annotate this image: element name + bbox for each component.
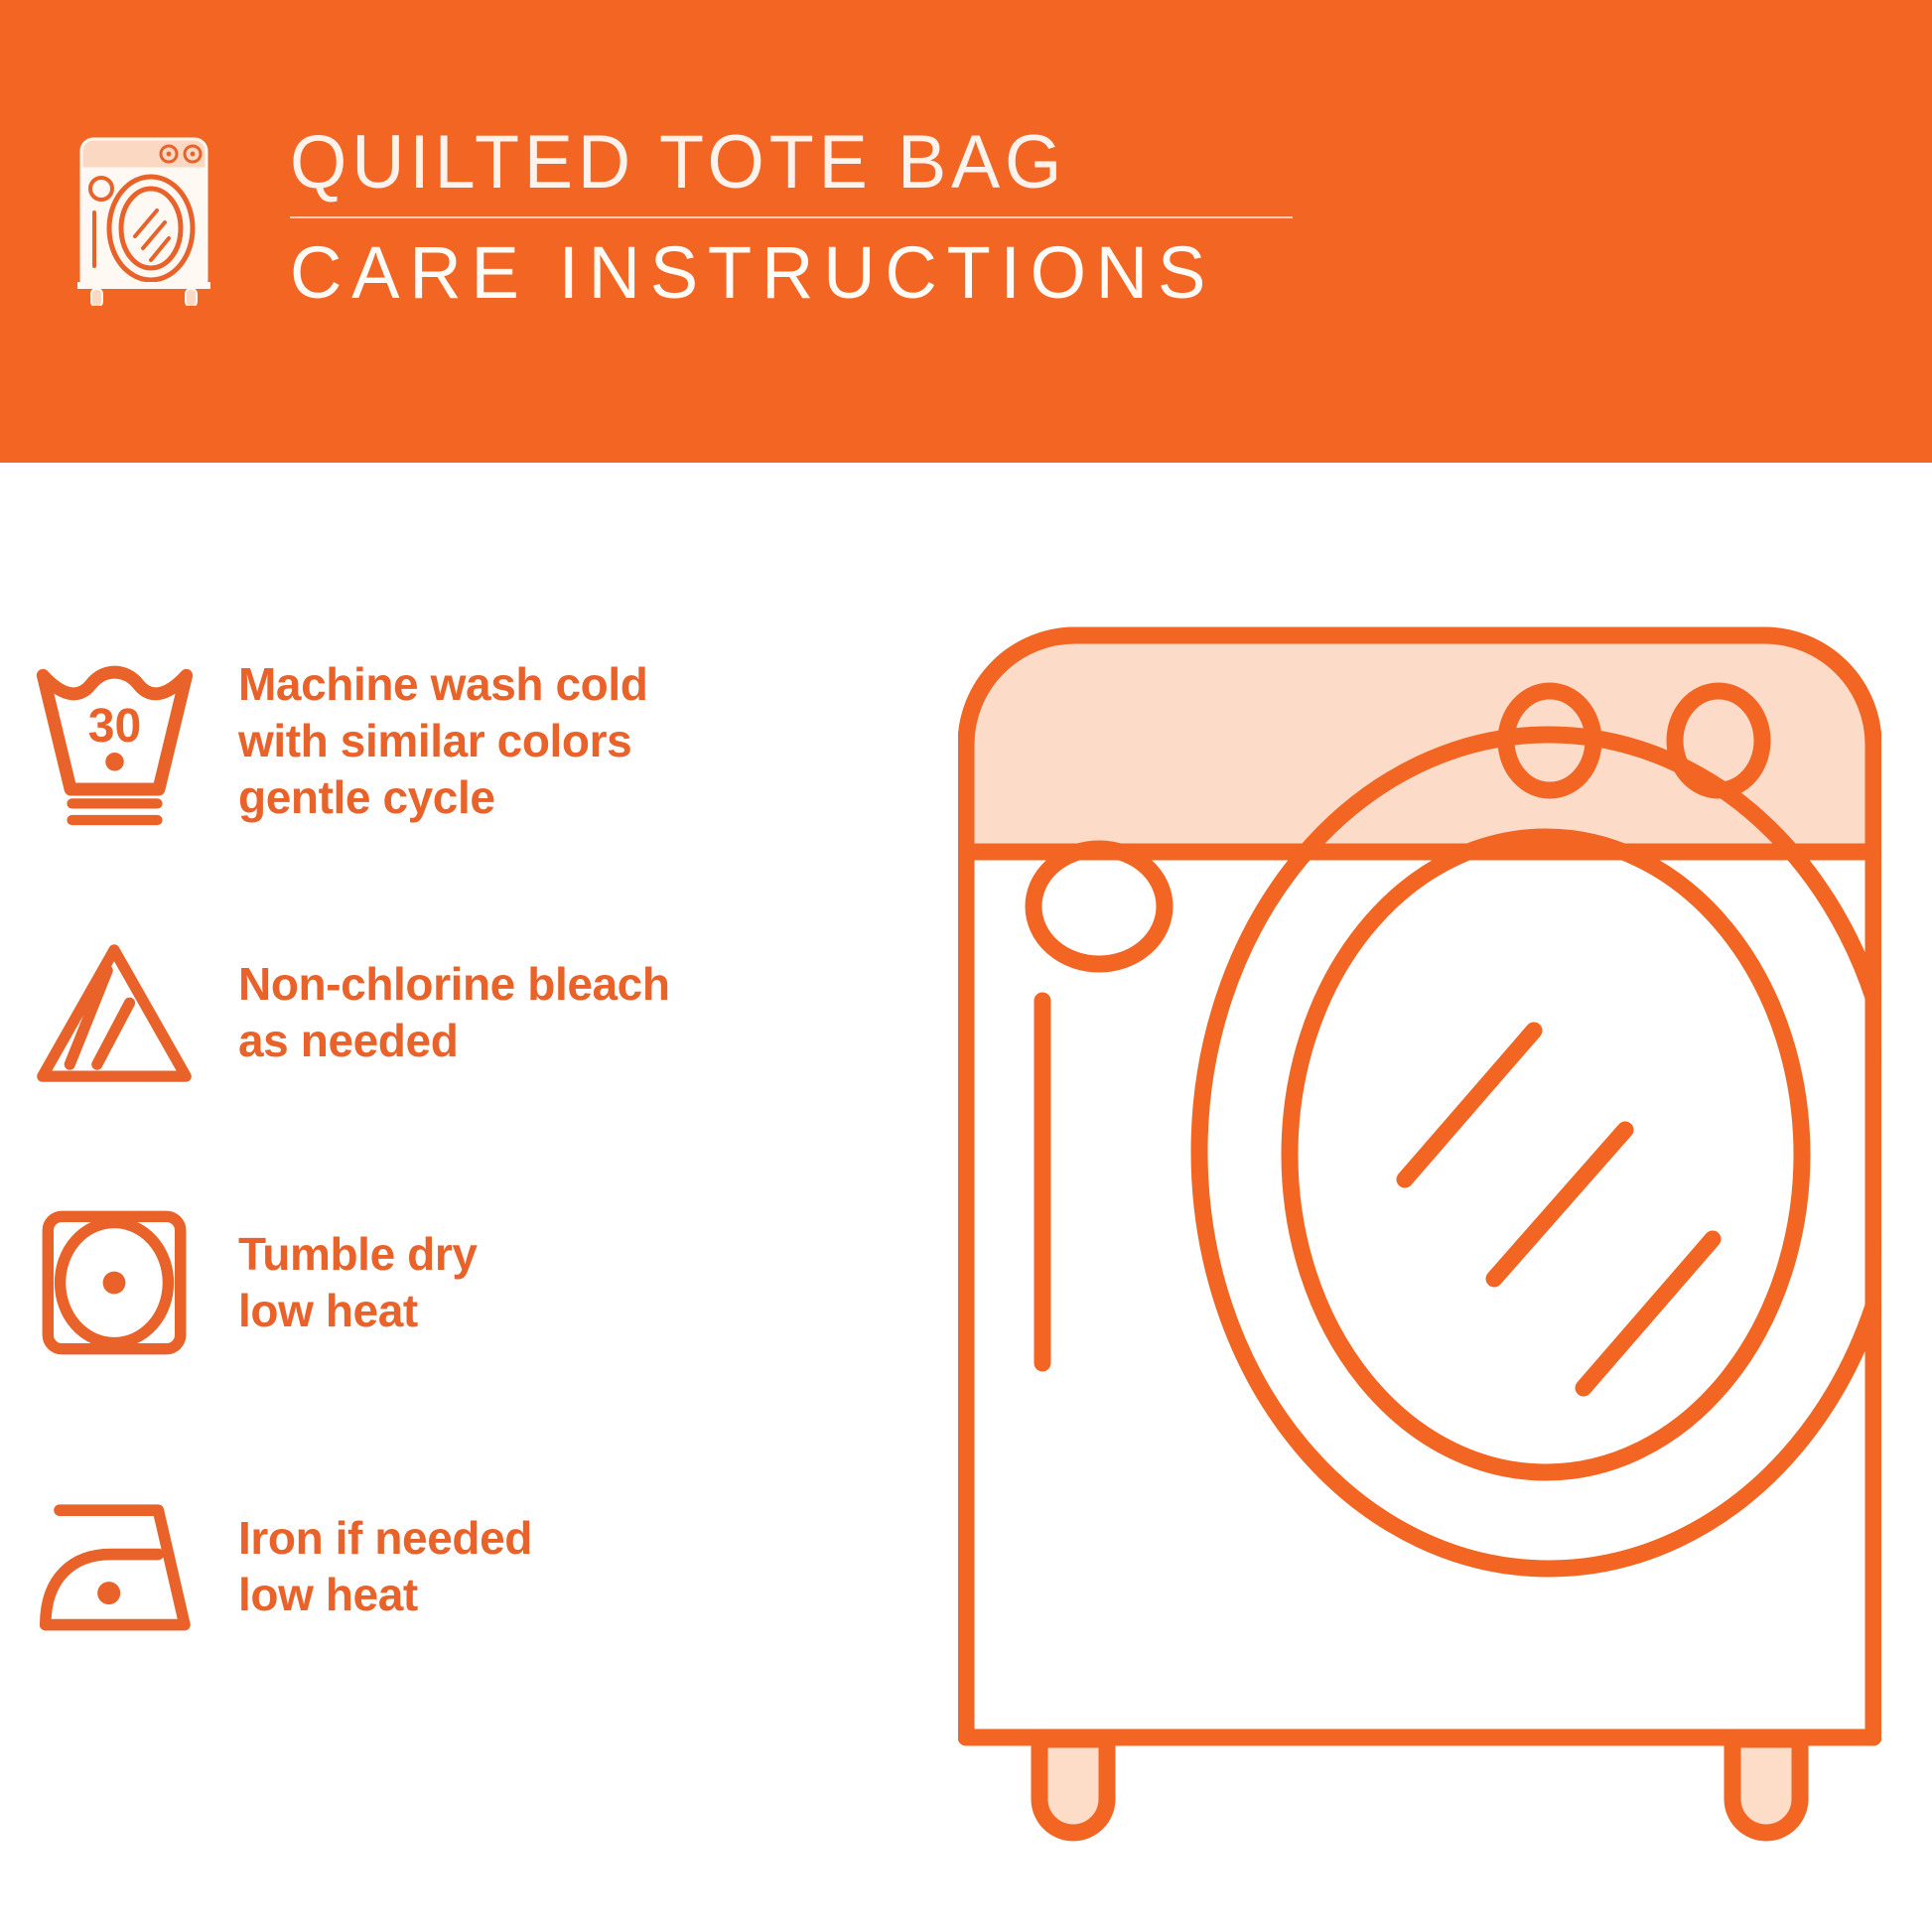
header-banner: QUILTED TOTE BAG CARE INSTRUCTIONS xyxy=(0,0,1932,463)
non-chlorine-bleach-triangle-icon xyxy=(0,913,228,1112)
care-row-bleach: Non-chlorine bleach as needed xyxy=(0,913,913,1112)
page-subtitle: CARE INSTRUCTIONS xyxy=(290,230,1283,316)
care-row-iron: Iron if needed low heat xyxy=(0,1467,913,1666)
iron-low-heat-icon xyxy=(0,1467,228,1666)
tumble-dry-low-icon xyxy=(0,1183,228,1382)
care-row-tumble-dry: Tumble dry low heat xyxy=(0,1183,913,1382)
washing-machine-icon xyxy=(69,127,218,306)
header-text-block: QUILTED TOTE BAG CARE INSTRUCTIONS xyxy=(290,119,1303,316)
care-label: Iron if needed low heat xyxy=(238,1510,532,1623)
care-label: Machine wash cold with similar colors ge… xyxy=(238,656,647,826)
header-content: QUILTED TOTE BAG CARE INSTRUCTIONS xyxy=(69,119,1311,338)
care-row-machine-wash: 30 Machine wash cold with similar colors… xyxy=(0,641,913,840)
care-instructions-infographic: QUILTED TOTE BAG CARE INSTRUCTIONS 30 Ma… xyxy=(0,0,1932,1932)
title-divider xyxy=(290,216,1293,218)
front-load-washing-machine-illustration xyxy=(958,623,1881,1864)
page-title: QUILTED TOTE BAG xyxy=(290,119,1272,207)
care-label: Tumble dry low heat xyxy=(238,1226,478,1339)
care-instructions-list: 30 Machine wash cold with similar colors… xyxy=(0,463,953,1932)
svg-text:30: 30 xyxy=(87,699,141,753)
care-label: Non-chlorine bleach as needed xyxy=(238,956,670,1069)
machine-wash-30-icon: 30 xyxy=(0,641,228,840)
